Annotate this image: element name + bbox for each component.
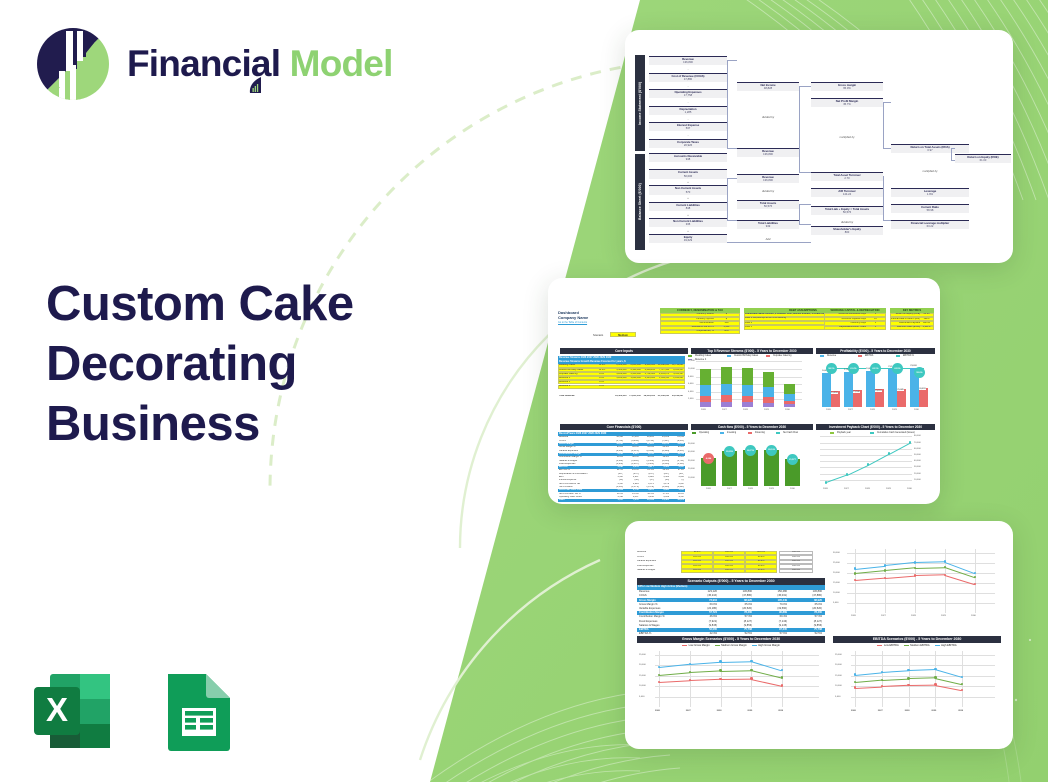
row-growth: 0.0% bbox=[599, 385, 612, 388]
legend-item: Medium EBITDA bbox=[904, 644, 930, 647]
operator-minus: - bbox=[649, 134, 727, 137]
y-tick-label: 15,000 bbox=[835, 675, 842, 677]
dupont-node-value: 136,800 bbox=[737, 153, 799, 157]
row-label: Revenue bbox=[639, 590, 685, 593]
chart-legend-item: EBITDA bbox=[858, 355, 873, 357]
legend-label: Net Cash Flow bbox=[783, 432, 798, 434]
connector-line bbox=[799, 204, 800, 224]
y-tick-label: 5,000 bbox=[639, 696, 644, 698]
dupont-node-value: 537 bbox=[649, 127, 727, 131]
row-label: Revenue 6 bbox=[559, 385, 598, 388]
x-tick-label: 2027 bbox=[722, 409, 727, 411]
row-label: Salaries & Wages bbox=[637, 569, 679, 572]
row-value: (47,880) bbox=[788, 594, 822, 597]
y-tick-label: 40,000 bbox=[688, 451, 695, 453]
data-point bbox=[961, 689, 963, 691]
operator-divided-by: divided by bbox=[737, 190, 799, 193]
y-tick-label: 4,000 bbox=[688, 391, 693, 393]
y-tick-label: 80,000 bbox=[914, 435, 921, 437]
y-tick-label: 70,000 bbox=[914, 442, 921, 444]
row-value: 10 bbox=[866, 318, 885, 321]
row-value: (22,180) bbox=[683, 607, 717, 610]
row-label: EBITDA % bbox=[639, 632, 685, 635]
row-value: 192% bbox=[920, 318, 933, 321]
line-segment bbox=[721, 679, 752, 680]
dupont-node: Depreciation1,285 bbox=[649, 106, 727, 115]
svg-text:X: X bbox=[46, 691, 68, 728]
connector-line bbox=[727, 220, 737, 221]
row-value: 5 bbox=[866, 313, 885, 316]
bar-segment bbox=[784, 404, 795, 407]
line-segment bbox=[855, 686, 882, 688]
x-tick-label: 2028 bbox=[870, 409, 875, 411]
dashboard-subtitle: Company Name bbox=[558, 315, 588, 320]
chart-legend-item: Financing bbox=[748, 432, 765, 434]
x-tick-label: 2026 bbox=[655, 710, 660, 712]
pct-value: 105.0% bbox=[681, 556, 713, 559]
dupont-node: Interest Expense537 bbox=[649, 122, 727, 131]
dupont-node-value: 0.97 bbox=[891, 149, 969, 153]
x-tick-label: 2028 bbox=[911, 615, 916, 617]
chart-title: EBITDA Scenarios ($'000) - 5 Years to De… bbox=[833, 636, 1001, 643]
row-value: 78,400 bbox=[718, 611, 752, 614]
row-value: 5 bbox=[866, 326, 885, 329]
active-value: 100.0% bbox=[779, 560, 813, 563]
bar-segment bbox=[742, 368, 753, 385]
bar-segment bbox=[721, 402, 732, 407]
row-label: Inventory Days bbox=[825, 322, 866, 325]
row-value: 75,708 bbox=[788, 628, 822, 631]
bar-revenue bbox=[866, 371, 875, 407]
line-segment bbox=[885, 568, 915, 571]
row-value: 105,449 bbox=[753, 599, 787, 602]
dupont-node: Total Liab + Equity = Total Assets50,576 bbox=[811, 206, 883, 215]
line-segment bbox=[751, 670, 782, 678]
x-tick-label: 2030 bbox=[790, 488, 795, 490]
row-value: 7,051 bbox=[624, 499, 639, 502]
dupont-node: Shareholder's Equity800 bbox=[811, 226, 883, 235]
x-tick-label: 2027 bbox=[727, 488, 732, 490]
row-value: 88,920 bbox=[788, 599, 822, 602]
dupont-node: Leverage1.9% bbox=[891, 188, 969, 197]
line-segment bbox=[909, 669, 936, 671]
row-label: Contribution Margin % bbox=[639, 615, 685, 618]
x-tick-label: 2030 bbox=[958, 710, 963, 712]
legend-item: High EBITDA bbox=[935, 644, 957, 647]
bar-segment bbox=[721, 367, 732, 384]
row-label: Fixed Expenses bbox=[637, 565, 679, 568]
row-value: 150,480 bbox=[753, 590, 787, 593]
legend-swatch bbox=[820, 355, 824, 357]
value-bubble: 28,109 bbox=[766, 445, 777, 456]
operator-multiplied-by: multiplied by bbox=[811, 136, 883, 139]
y-tick-label: 20,000 bbox=[833, 572, 840, 574]
y-tick-label: 2,000 bbox=[688, 398, 693, 400]
y-tick-label: 5,000 bbox=[833, 602, 838, 604]
legend-line bbox=[752, 645, 757, 646]
legend-label: Investing bbox=[727, 432, 736, 434]
y-tick-label: 20,000 bbox=[914, 473, 921, 475]
operator-minus: - bbox=[649, 118, 727, 121]
y-tick-label: 12,000 bbox=[688, 360, 695, 362]
dupont-node: Corporate Taxes20,926 bbox=[649, 139, 727, 148]
pct-value: 100.0% bbox=[713, 556, 745, 559]
dupont-node-value: 35.7% bbox=[811, 103, 883, 107]
dupont-node: A/R Turnover144.24 bbox=[811, 188, 883, 197]
chart-legend-item: Cupcake Catering bbox=[766, 355, 791, 357]
y-tick-label: 50,000 bbox=[914, 454, 921, 456]
scenario-selector[interactable]: Medium bbox=[610, 332, 636, 337]
chart-legend-item: Net Cash Flow bbox=[776, 432, 798, 434]
bar-segment bbox=[700, 402, 711, 407]
toc-link[interactable]: Go to the Table of Contents bbox=[558, 321, 587, 324]
row-value: (8,127) bbox=[788, 620, 822, 623]
x-tick-label: 2030 bbox=[971, 615, 976, 617]
row-label: Corporate tax, % bbox=[661, 330, 714, 333]
dupont-node-value: 949 bbox=[737, 225, 799, 229]
bar-label: 19,818 bbox=[831, 392, 838, 394]
line-segment bbox=[909, 678, 936, 679]
scenario-label: Scenario bbox=[593, 334, 603, 337]
chart-legend-item: Custom Birthday Cakes bbox=[727, 355, 758, 357]
pct-value: 95.0% bbox=[745, 560, 777, 563]
row-value: (9,856) bbox=[718, 624, 752, 627]
dupont-node-value: 335 bbox=[649, 223, 727, 227]
y-tick-label: 6,000 bbox=[688, 383, 693, 385]
legend-line bbox=[682, 645, 687, 646]
row-label: Denomination bbox=[661, 322, 714, 325]
dupont-node: Revenue136,800 bbox=[737, 174, 799, 183]
legend-swatch bbox=[870, 432, 874, 434]
bar-ebitda bbox=[875, 389, 884, 407]
legend-label: High EBITDA bbox=[941, 644, 956, 647]
chart-legend-item: Operating bbox=[692, 432, 709, 434]
line-segment bbox=[721, 661, 752, 662]
row-value: (9,856) bbox=[788, 624, 822, 627]
y-tick-label: 10,000 bbox=[835, 685, 842, 687]
legend-swatch bbox=[748, 432, 752, 434]
bar-label: 21,506 bbox=[853, 391, 860, 393]
row-value: 52.5% bbox=[788, 632, 822, 635]
pct-value: 105.0% bbox=[681, 565, 713, 568]
x-tick-label: 2030 bbox=[785, 409, 790, 411]
legend-label: Low Gross Margin bbox=[689, 644, 710, 647]
dupont-node-value: 48,828 bbox=[737, 87, 799, 91]
dupont-node-value: 144.24 bbox=[811, 193, 883, 197]
legend-label: Financing bbox=[755, 432, 765, 434]
operator-divided-by: divided by bbox=[737, 116, 799, 119]
operator-plus: + bbox=[649, 181, 727, 184]
bar-segment bbox=[700, 396, 711, 402]
row-value: 57.3% bbox=[718, 615, 752, 618]
bar-revenue bbox=[822, 373, 831, 407]
bar-label: 23,201 bbox=[875, 390, 882, 392]
pct-value: 90.0% bbox=[681, 551, 713, 554]
x-tick-label: 2026 bbox=[823, 488, 828, 490]
dupont-node-value: 50,576 bbox=[737, 205, 799, 209]
line-segment bbox=[751, 661, 782, 671]
dupont-node: Accounts Receivable948 bbox=[649, 153, 727, 162]
row-value: 4,044 bbox=[609, 499, 624, 502]
microsoft-excel-icon[interactable]: X bbox=[24, 662, 122, 765]
row-label: Variable Expenses bbox=[637, 560, 679, 563]
line-segment bbox=[751, 679, 782, 686]
x-tick-label: 2027 bbox=[881, 615, 886, 617]
google-sheets-icon[interactable] bbox=[160, 662, 238, 765]
x-tick-label: 2026 bbox=[701, 409, 706, 411]
dupont-node-value: 800 bbox=[811, 231, 883, 235]
x-tick-label: 2026 bbox=[706, 488, 711, 490]
row-value: 1,500 bbox=[714, 326, 738, 329]
dupont-node: Current Assets50,006 bbox=[649, 169, 727, 178]
dupont-node: Gross margin65.0% bbox=[811, 82, 883, 91]
row-label: Salaries & Wages bbox=[639, 624, 685, 627]
legend-line bbox=[904, 645, 909, 646]
x-tick-label: 2030 bbox=[914, 409, 919, 411]
y-tick-label: 10,000 bbox=[688, 477, 695, 479]
row-value: 5 bbox=[866, 322, 885, 325]
legend-line bbox=[715, 645, 720, 646]
legend-item: Low EBITDA bbox=[877, 644, 898, 647]
y-tick-label: 25,000 bbox=[833, 562, 840, 564]
operator-minus: - bbox=[649, 68, 727, 71]
operator-plus: + bbox=[649, 214, 727, 217]
legend-label: EBITDA bbox=[865, 355, 873, 357]
brand-wordmark: Financial Model bbox=[127, 43, 393, 85]
y-tick-label: 60,000 bbox=[914, 448, 921, 450]
connector-line bbox=[883, 220, 891, 221]
circle-chart-logo-icon bbox=[36, 27, 110, 101]
total-value: 16,400,000 bbox=[613, 395, 627, 398]
panel-title: Cash flow ($'000) - 5 Years to December … bbox=[691, 424, 814, 430]
row-value: 90,889 bbox=[753, 611, 787, 614]
row-value: (45,031) bbox=[753, 594, 787, 597]
data-point bbox=[781, 676, 783, 678]
connector-line bbox=[799, 224, 811, 225]
y-tick-label: 20,000 bbox=[835, 664, 842, 666]
bar-segment bbox=[784, 384, 795, 394]
bar-segment bbox=[700, 385, 711, 396]
row-value: 65.0% bbox=[788, 603, 822, 606]
row-label: Revenue bbox=[637, 551, 679, 554]
bar-revenue bbox=[888, 369, 897, 407]
y-tick-label: 8,000 bbox=[688, 376, 693, 378]
connector-line bbox=[727, 148, 737, 149]
row-value: '000 bbox=[714, 322, 738, 325]
line-segment bbox=[882, 678, 909, 680]
bar-segment bbox=[784, 394, 795, 401]
table-header-row: KPIs Low Medium High Active (Medium) bbox=[637, 585, 825, 590]
line-segment bbox=[915, 567, 945, 568]
row-value: (8,127) bbox=[718, 620, 752, 623]
x-tick-label: 2029 bbox=[941, 615, 946, 617]
y-tick-label: 40,000 bbox=[914, 460, 921, 462]
dupont-node: Operating Expenses17,758 bbox=[649, 89, 727, 98]
chart-legend: Low EBITDAMedium EBITDAHigh EBITDA bbox=[833, 644, 1001, 647]
y-tick-label: 30,000 bbox=[688, 460, 695, 462]
connector-line bbox=[799, 86, 800, 172]
pct-value: 100.0% bbox=[713, 560, 745, 563]
row-value: 136,800 bbox=[718, 590, 752, 593]
line-segment bbox=[882, 670, 909, 672]
connector-line bbox=[883, 176, 884, 220]
dupont-node-value: 50,006 bbox=[649, 175, 727, 179]
brand-logo[interactable]: Financial Model bbox=[36, 27, 393, 101]
x-tick-label: 2027 bbox=[686, 710, 691, 712]
connector-line bbox=[727, 178, 728, 220]
connector-line bbox=[799, 86, 811, 87]
row-value: (20,520) bbox=[788, 607, 822, 610]
chart-legend-item: EBITDA % bbox=[896, 355, 914, 357]
bar-segment bbox=[742, 385, 753, 396]
row-value: 1,951.8 bbox=[920, 326, 933, 329]
row-label: Accounts Receivable Days bbox=[825, 313, 866, 316]
pct-value: 105.0% bbox=[681, 569, 713, 572]
total-value: 19,403,000 bbox=[641, 395, 655, 398]
x-tick-label: 2028 bbox=[748, 488, 753, 490]
total-label: Total Revenue bbox=[559, 395, 575, 398]
bar-label: 25,085 bbox=[897, 389, 904, 391]
x-tick-label: 2027 bbox=[844, 488, 849, 490]
row-value: 14,461 bbox=[655, 499, 670, 502]
dupont-node: Total Asset Turnover2.70 bbox=[811, 172, 883, 181]
y-tick-label: 20,000 bbox=[639, 664, 646, 666]
dashboard-card[interactable]: DashboardCompany NameGo to the Table of … bbox=[548, 278, 940, 504]
x-tick-label: 2029 bbox=[764, 409, 769, 411]
line-segment bbox=[690, 662, 721, 665]
legend-label: Payback year bbox=[837, 432, 851, 434]
dupont-node: Current Liabilities848 bbox=[649, 202, 727, 211]
pct-value: 95.0% bbox=[745, 556, 777, 559]
dupont-node-value: 50,576 bbox=[811, 211, 883, 215]
row-value: (9,145) bbox=[753, 624, 787, 627]
x-tick-label: 2030 bbox=[907, 488, 912, 490]
row-label: COGS bbox=[637, 556, 679, 559]
row-value: 10,509 bbox=[639, 499, 654, 502]
dupont-node: Non Current Assets570 bbox=[649, 185, 727, 194]
dupont-node-value: 570 bbox=[649, 191, 727, 195]
operator-minus: - bbox=[649, 85, 727, 88]
connector-line bbox=[951, 148, 955, 149]
x-tick-label: 2026 bbox=[851, 615, 856, 617]
pct-value: 105.0% bbox=[681, 560, 713, 563]
row-value: (20,520) bbox=[718, 607, 752, 610]
operator-plus: + bbox=[649, 197, 727, 200]
legend-label: Medium EBITDA bbox=[910, 644, 929, 647]
bar-segment bbox=[742, 396, 753, 402]
scenario-analysis-card[interactable]: Revenue90.0%100.0%110.0%100.0%COGS105.0%… bbox=[625, 521, 1013, 749]
connector-line bbox=[951, 160, 955, 161]
connector-line bbox=[883, 102, 884, 148]
dupont-section-balance: Balance Sheet ($'000) bbox=[635, 154, 645, 250]
connector-line bbox=[727, 178, 737, 179]
row-label: Internal Rate of Return (IRR), % bbox=[891, 318, 920, 321]
row-label: Variable Expenses bbox=[639, 607, 685, 610]
line-segment bbox=[855, 672, 882, 675]
total-value: 17,841,000 bbox=[627, 395, 641, 398]
brand-name-part2: Model bbox=[290, 43, 393, 84]
row-value: 57.3% bbox=[788, 615, 822, 618]
row-label: Accounts Payable Days bbox=[825, 318, 866, 321]
pct-value: 95.0% bbox=[745, 569, 777, 572]
dupont-analysis-card[interactable]: Income Statement ($'000)Balance Sheet ($… bbox=[625, 30, 1013, 263]
row-value: 88,920 bbox=[718, 599, 752, 602]
dupont-node: Revenue136,800 bbox=[649, 56, 727, 65]
row-label: Gross Margin % bbox=[639, 603, 685, 606]
y-tick-label: 50,000 bbox=[688, 443, 695, 445]
y-tick-label: 10,000 bbox=[914, 479, 921, 481]
line-segment bbox=[885, 575, 915, 578]
chart-legend-item: Revenue bbox=[820, 355, 836, 357]
row-value: 60.4% bbox=[753, 615, 787, 618]
dupont-node-value: 136,800 bbox=[649, 61, 727, 65]
row-value: 78,400 bbox=[788, 611, 822, 614]
pct-value: 100.0% bbox=[713, 569, 745, 572]
row-label: Currency Symbol bbox=[661, 318, 714, 321]
pct-value: 100.0% bbox=[713, 551, 745, 554]
row-value: 42.3% bbox=[683, 632, 717, 635]
x-tick-label: 2028 bbox=[865, 488, 870, 490]
legend-line bbox=[877, 645, 882, 646]
dupont-node: Net Profit Margin35.7% bbox=[811, 98, 883, 107]
row-value: (19,560) bbox=[753, 607, 787, 610]
operator-minus: - bbox=[649, 101, 727, 104]
file-format-icons: X bbox=[24, 662, 238, 765]
dupont-node: Return on Total Assets (ROA)0.97 bbox=[891, 144, 969, 153]
data-point bbox=[961, 683, 963, 685]
bar-segment bbox=[721, 384, 732, 395]
dupont-node: Non Current Liabilities335 bbox=[649, 218, 727, 227]
pct-bubble: 55.0% bbox=[914, 367, 925, 378]
legend-label: Custom Birthday Cakes bbox=[734, 355, 758, 357]
dupont-node-value: 2.70 bbox=[811, 177, 883, 181]
row-label: Return on Equity (ROE) bbox=[891, 313, 920, 316]
connector-line bbox=[883, 102, 891, 103]
bar-ebitda bbox=[897, 389, 906, 407]
total-value: 23,018,000 bbox=[670, 395, 684, 398]
legend-label: High Gross Margin bbox=[758, 644, 780, 647]
hero-left-panel: Financial Model Custom Cake Decorating B… bbox=[0, 0, 480, 782]
legend-label: Cumulative Cash Generated (losses) bbox=[877, 432, 915, 434]
y-tick-label: 15,000 bbox=[639, 675, 646, 677]
dupont-node: Current Ratio58.98 bbox=[891, 204, 969, 213]
legend-swatch bbox=[858, 355, 862, 357]
row-label: Cash bbox=[559, 499, 607, 502]
line-segment bbox=[935, 669, 962, 677]
y-tick-label: 20,000 bbox=[688, 468, 695, 470]
dupont-node: Total Assets50,576 bbox=[737, 200, 799, 209]
legend-label: EBITDA % bbox=[903, 355, 914, 357]
connector-line bbox=[727, 242, 811, 243]
bar-segment bbox=[742, 402, 753, 407]
y-tick-label: 25,000 bbox=[639, 654, 646, 656]
row-value: 123,120 bbox=[683, 590, 717, 593]
operator-plus: + bbox=[649, 230, 727, 233]
value-bubble: 20,259 bbox=[724, 446, 735, 457]
bar-segment bbox=[721, 395, 732, 402]
legend-label: Low EBITDA bbox=[884, 644, 899, 647]
data-point bbox=[974, 572, 976, 574]
dupont-node: Equity49,629 bbox=[649, 234, 727, 243]
x-tick-label: 2028 bbox=[743, 409, 748, 411]
dupont-node: Return on Equity (ROE)61.03 bbox=[955, 154, 1011, 163]
x-tick-label: 2027 bbox=[848, 409, 853, 411]
row-label: COGS bbox=[639, 594, 685, 597]
page-title: Custom Cake Decorating Business bbox=[46, 275, 466, 454]
legend-label: Operating bbox=[699, 432, 709, 434]
row-label: Fixed Expenses bbox=[639, 620, 685, 623]
row-label: Depreciation/Amort. Years bbox=[825, 326, 866, 329]
